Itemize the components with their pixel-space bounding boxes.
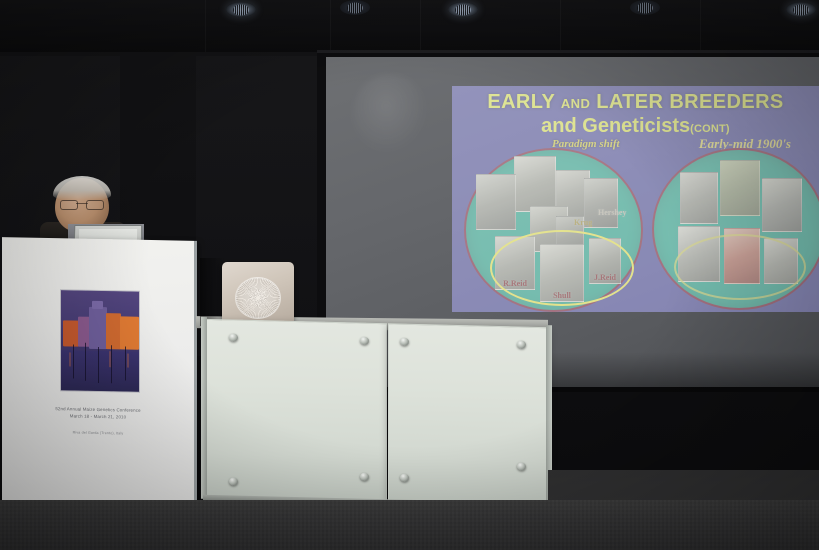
standoff-bolt	[360, 473, 369, 481]
poster-board: 52nd Annual Maize Genetics Conference Ma…	[2, 237, 197, 530]
portrait	[476, 174, 516, 230]
screen-reflection	[352, 74, 428, 154]
portrait	[762, 178, 802, 232]
portrait-label-krug: Krug	[574, 218, 592, 227]
highlight-ellipse-right	[674, 234, 806, 300]
ceiling-spotlight-2	[340, 0, 370, 15]
highlight-ellipse-left	[490, 230, 634, 306]
glass-panel-right	[388, 323, 549, 507]
presentation-room-photo: EARLY AND LATER BREEDERS and Geneticists…	[0, 0, 819, 550]
poster-caption-line2: March 18 - March 21, 2010	[2, 412, 194, 421]
standoff-bolt	[400, 474, 409, 482]
slide-title-line2: and Geneticists(CONT)	[452, 115, 819, 138]
portrait-label-hershey: Hershey	[598, 208, 626, 217]
portrait	[720, 160, 760, 216]
standoff-bolt	[229, 477, 238, 485]
standoff-bolt	[400, 338, 409, 346]
portrait	[514, 156, 556, 212]
standoff-bolt	[360, 337, 369, 345]
portrait	[680, 172, 718, 224]
eyeglasses-icon	[60, 200, 104, 208]
floor	[0, 500, 819, 550]
ceiling-spotlight-5	[786, 2, 816, 17]
glass-partition	[205, 319, 547, 527]
poster-artwork	[61, 290, 139, 391]
standoff-bolt	[229, 333, 238, 341]
standoff-bolt	[517, 462, 526, 470]
conference-speakerphone	[222, 262, 294, 324]
poster-caption-line3: Riva del Garda (Trento), Italy	[2, 429, 194, 437]
ceiling-spotlight-4	[630, 0, 660, 15]
ceiling-spotlight-1	[226, 2, 256, 17]
slide-title-line1: EARLY AND LATER BREEDERS	[452, 91, 819, 114]
projected-slide: EARLY AND LATER BREEDERS and Geneticists…	[452, 86, 819, 312]
standoff-bolt	[517, 340, 526, 348]
speaker-center	[256, 296, 260, 300]
ceiling-spotlight-3	[448, 2, 478, 17]
glass-post-left	[201, 317, 207, 499]
